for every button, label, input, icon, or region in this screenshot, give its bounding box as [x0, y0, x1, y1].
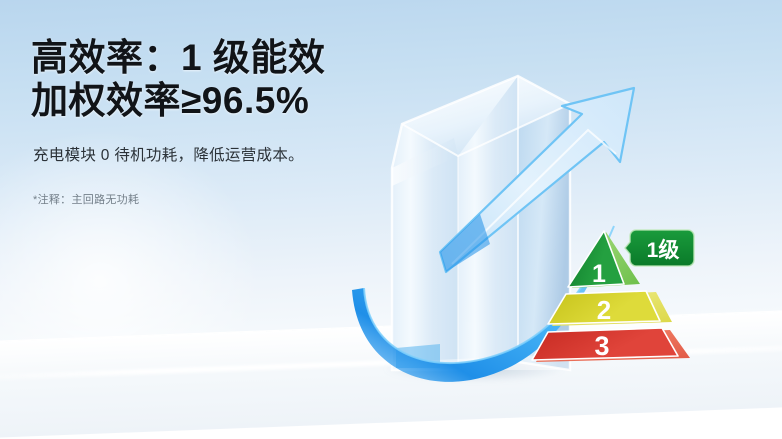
grade-1-badge: 1级 — [624, 226, 696, 270]
grade-2-tier: 2 — [548, 291, 672, 326]
promo-banner: 高效率：1 级能效 加权效率≥96.5% 充电模块 0 待机功耗，降低运营成本。… — [0, 0, 782, 439]
grade-2-label: 2 — [597, 295, 611, 325]
grade-3-tier: 3 — [532, 328, 690, 362]
headline-line-1: 高效率：1 级能效 — [31, 37, 325, 78]
badge-label: 1级 — [647, 238, 680, 262]
grade-1-label: 1 — [592, 260, 606, 288]
grade-3-label: 3 — [594, 331, 609, 361]
